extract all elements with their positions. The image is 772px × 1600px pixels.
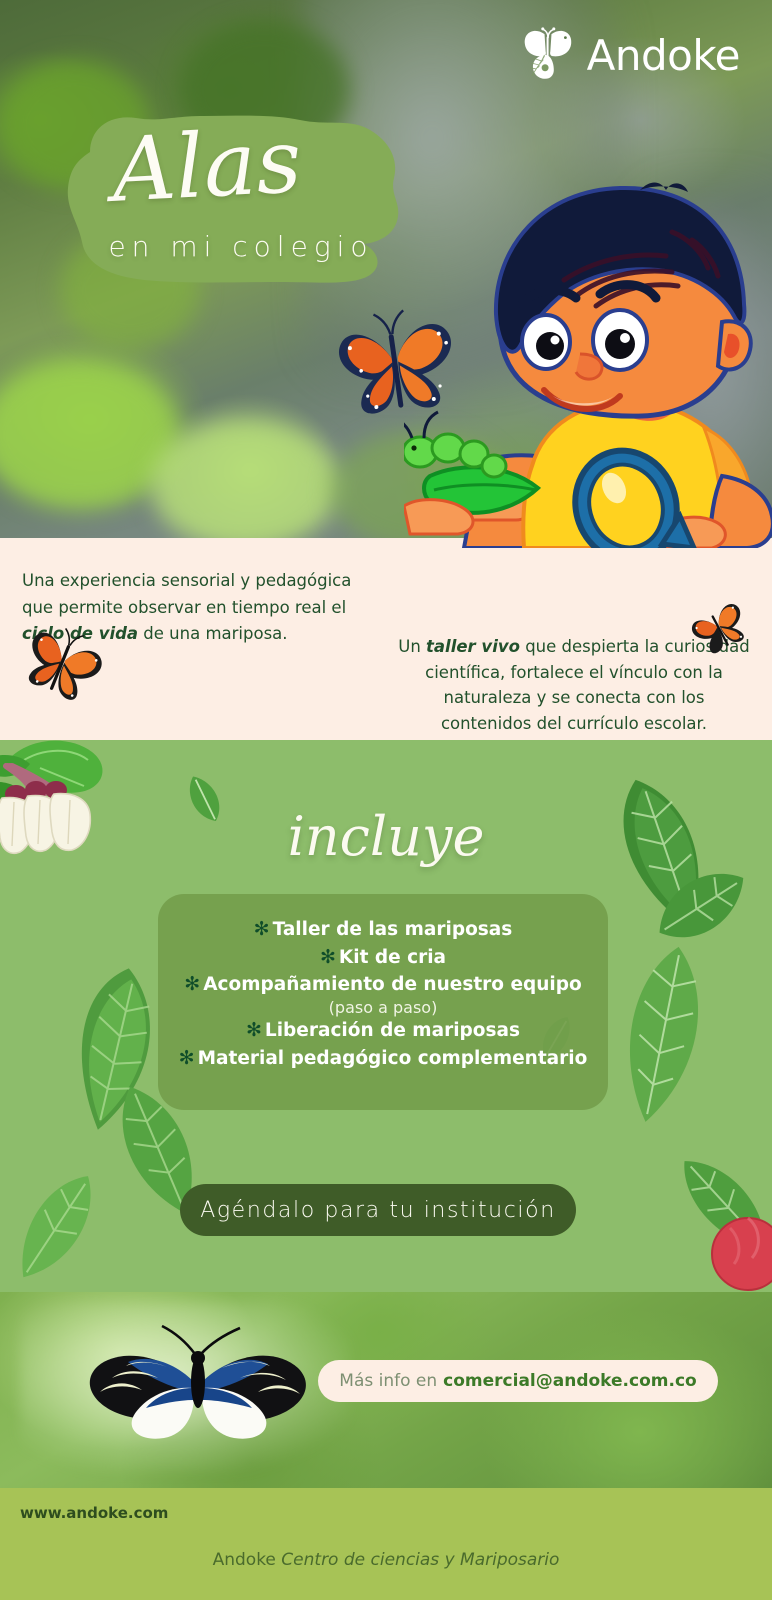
list-item-label: Taller de las mariposas <box>273 919 513 940</box>
butterfly-leaf-logo-icon <box>519 26 577 84</box>
intro-left-line1: Una experiencia sensorial y pedagógica <box>22 571 351 590</box>
list-item-label: Acompañamiento de nuestro equipo <box>203 974 581 995</box>
poster-root: Andoke Alas en mi colegio <box>0 0 772 1600</box>
brand-name: Andoke <box>587 31 740 80</box>
asterisk-bullet-icon: ✻ <box>254 918 270 940</box>
contact-prefix: Más info en <box>339 1371 437 1391</box>
monarch-butterfly-icon <box>20 622 106 700</box>
leaf-icon <box>0 1160 110 1290</box>
asterisk-bullet-icon: ✻ <box>184 973 200 995</box>
monarch-butterfly-icon <box>330 300 460 420</box>
list-item: ✻Liberación de mariposas <box>158 1017 608 1045</box>
list-item-label: Kit de cria <box>339 947 446 968</box>
red-berry-icon <box>700 1208 772 1292</box>
schedule-cta-label: Agéndalo para tu institución <box>200 1198 556 1223</box>
list-item: ✻Taller de las mariposas <box>158 916 608 944</box>
page-title: Alas <box>110 117 304 215</box>
list-item: ✻Material pedagógico complementario <box>158 1045 608 1073</box>
leaf-icon <box>590 940 740 1130</box>
contact-email[interactable]: comercial@andoke.com.co <box>443 1371 697 1391</box>
intro-right-emphasis: taller vivo <box>426 637 520 656</box>
monarch-butterfly-icon <box>688 598 748 654</box>
list-item: ✻Kit de cria <box>158 944 608 972</box>
intro-left-line3-rest: de una mariposa. <box>138 624 287 643</box>
footer-brand: Andoke <box>213 1550 276 1570</box>
footer-tagline: Centro de ciencias y Mariposario <box>281 1550 559 1570</box>
list-item-sublabel: (paso a paso) <box>158 998 608 1017</box>
footer: www.andoke.com Andoke Centro de ciencias… <box>0 1488 772 1600</box>
blue-heliconius-butterfly-icon <box>62 1318 332 1468</box>
asterisk-bullet-icon: ✻ <box>179 1047 195 1069</box>
list-item-label: Liberación de mariposas <box>265 1020 520 1041</box>
footer-website-url[interactable]: www.andoke.com <box>20 1504 168 1522</box>
page-subtitle: en mi colegio <box>86 230 396 263</box>
list-item-label: Material pedagógico complementario <box>198 1048 588 1069</box>
includes-list: ✻Taller de las mariposas ✻Kit de cria ✻A… <box>158 916 608 1073</box>
brand-logo[interactable]: Andoke <box>519 26 740 84</box>
list-item: ✻Acompañamiento de nuestro equipo <box>158 971 608 999</box>
hero-foliage-blob <box>150 420 340 538</box>
contact-email-pill[interactable]: Más info en comercial@andoke.com.co <box>318 1360 718 1402</box>
white-bell-flowers-icon <box>0 690 188 870</box>
intro-right-prefix: Un <box>398 637 426 656</box>
asterisk-bullet-icon: ✻ <box>246 1019 262 1041</box>
intro-left-line2: que permite observar en tiempo real el <box>22 598 346 617</box>
schedule-cta-button[interactable]: Agéndalo para tu institución <box>180 1184 576 1236</box>
footer-signature: Andoke Centro de ciencias y Mariposario <box>0 1550 772 1570</box>
hero-title-badge: Alas en mi colegio <box>64 112 410 286</box>
asterisk-bullet-icon: ✻ <box>320 946 336 968</box>
